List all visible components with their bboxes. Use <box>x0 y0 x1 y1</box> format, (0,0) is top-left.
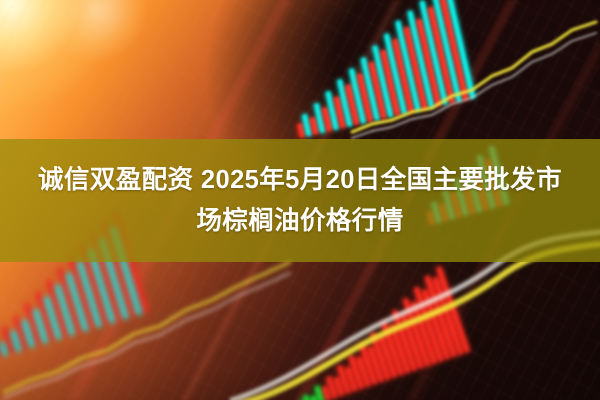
page-title-line-1: 诚信双盈配资 2025年5月20日全国主要批发市 <box>38 160 562 201</box>
title-overlay-band: 诚信双盈配资 2025年5月20日全国主要批发市 场棕榈油价格行情 <box>0 139 600 262</box>
page-title-line-2: 场棕榈油价格行情 <box>196 201 403 242</box>
banner-image: 诚信双盈配资 2025年5月20日全国主要批发市 场棕榈油价格行情 <box>0 0 600 400</box>
